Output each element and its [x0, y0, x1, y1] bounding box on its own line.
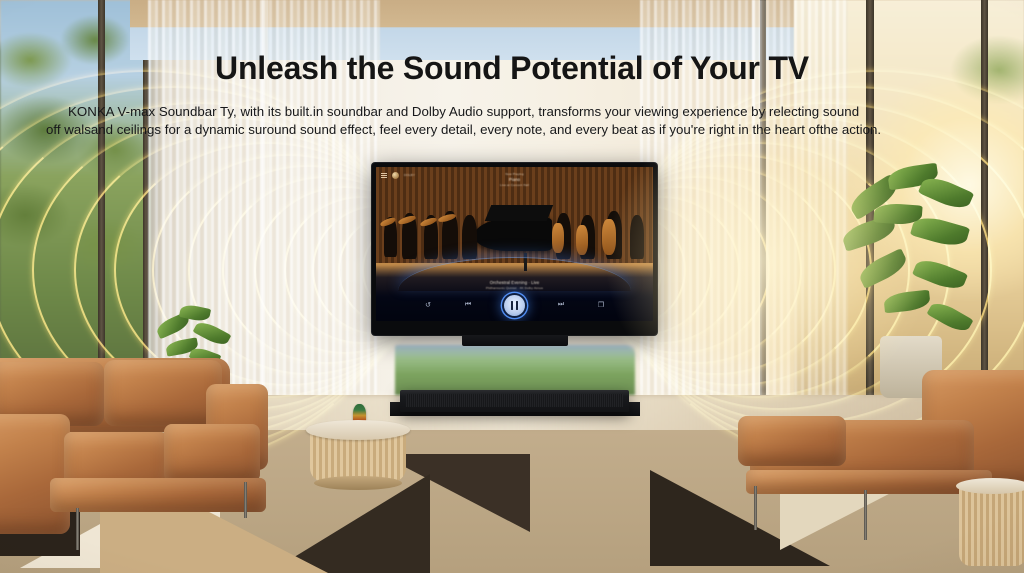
plant-leaf: [912, 255, 968, 294]
sofa-leg: [864, 490, 867, 540]
table-top: [306, 420, 410, 440]
plant-leaf: [856, 248, 910, 289]
sofa-seat-cushion: [738, 416, 846, 466]
plant-leaf: [883, 290, 931, 314]
body-copy: KONKA V-max Soundbar Ty, with its built.…: [46, 103, 978, 139]
round-wood-coffee-table: [306, 420, 410, 492]
sofa-leg: [754, 486, 757, 530]
sofa-base: [50, 478, 266, 512]
tv-stand-neck: [462, 335, 568, 346]
soundbar-speaker-grille: [406, 394, 623, 407]
soundbar[interactable]: [400, 390, 629, 412]
tv-screen[interactable]: DOLBY Now Playing Piano Live at Concert …: [376, 167, 653, 321]
side-table-top: [956, 478, 1024, 494]
cello: [576, 225, 588, 255]
left-leather-sofa: [0, 358, 280, 573]
replay-icon[interactable]: ↺: [424, 301, 432, 309]
previous-icon[interactable]: ⏮: [464, 301, 472, 309]
page-title: Unleash the Sound Potential of Your TV: [0, 50, 1024, 87]
musician: [630, 215, 644, 259]
body-copy-line-2: off walsand ceilings for a dynamic surou…: [46, 121, 978, 139]
tv-overlay-top-center: Now Playing Piano Live at Concert Hall: [376, 172, 653, 188]
double-bass: [602, 219, 616, 255]
track-subtitle: Philharmonic Quintet · 4K Dolby Atmos: [376, 286, 653, 291]
pianist: [462, 215, 477, 259]
plant-leaf: [193, 318, 232, 348]
television[interactable]: DOLBY Now Playing Piano Live at Concert …: [372, 163, 657, 335]
sofa-seat-cushion: [164, 424, 260, 482]
promo-banner: DOLBY Now Playing Piano Live at Concert …: [0, 0, 1024, 573]
body-copy-line-1: KONKA V-max Soundbar Ty, with its built.…: [46, 103, 978, 121]
plant-leaf: [918, 172, 974, 213]
side-table-right: [956, 478, 1024, 573]
player-track-info: Orchestral Evening · Live Philharmonic Q…: [376, 280, 653, 291]
piano-lid: [485, 205, 553, 221]
sofa-leg: [244, 482, 247, 518]
grand-piano: [474, 217, 552, 251]
sofa-back-cushion: [104, 360, 222, 426]
sofa-leg: [76, 508, 79, 550]
window-behind-tv: [395, 345, 635, 395]
play-pause-button[interactable]: [504, 295, 525, 316]
side-table-body: [959, 486, 1024, 566]
cello: [552, 223, 564, 253]
tv-bezel: DOLBY Now Playing Piano Live at Concert …: [372, 163, 657, 335]
plant-leaf: [926, 298, 973, 336]
tv-media-player[interactable]: Orchestral Evening · Live Philharmonic Q…: [376, 265, 653, 321]
table-base: [314, 476, 402, 490]
screen-cast-icon[interactable]: ❐: [597, 301, 605, 309]
player-controls[interactable]: ↺ ⏮ ⏭ ❐: [376, 294, 653, 316]
sofa-armrest-left: [0, 414, 70, 534]
tv-subtitle-line: Live at Concert Hall: [376, 183, 653, 188]
next-icon[interactable]: ⏭: [557, 301, 565, 309]
